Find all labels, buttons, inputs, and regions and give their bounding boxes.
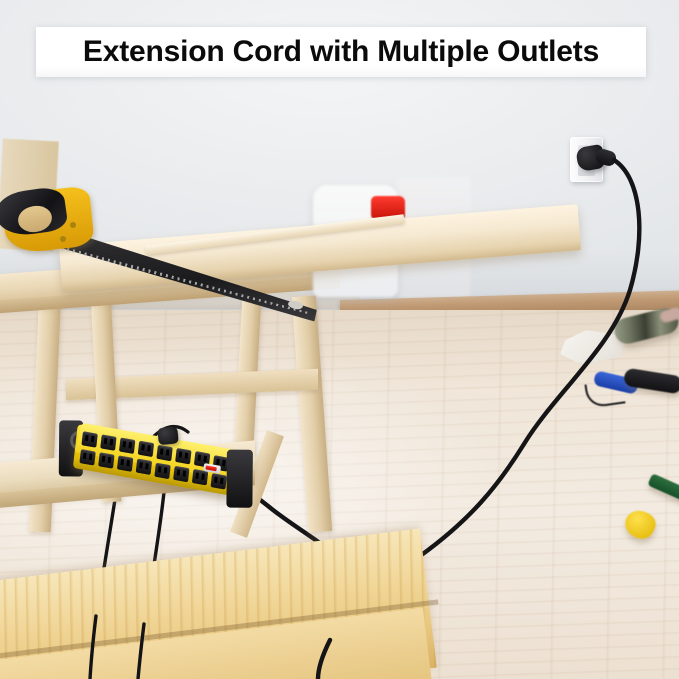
banner-title-text: Extension Cord with Multiple Outlets xyxy=(83,35,599,69)
foreground-cable-overlay xyxy=(0,0,679,679)
title-banner: Extension Cord with Multiple Outlets xyxy=(36,27,646,77)
product-photo-scene: Extension Cord with Multiple Outlets xyxy=(0,0,679,679)
